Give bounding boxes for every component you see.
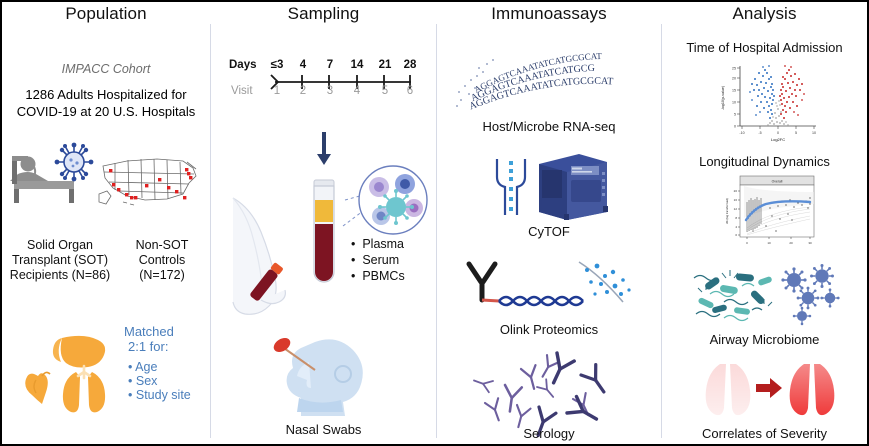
longitudinal-plot-icon: Overall 201612 840 0102030 Ab (log trans…	[722, 174, 818, 252]
svg-text:15: 15	[732, 89, 736, 93]
group-control-line-2: Controls	[116, 253, 208, 268]
group-sot-line-1: Solid Organ	[4, 238, 116, 253]
cytof-instrument-icon	[533, 150, 613, 222]
list-item: • PBMCs	[351, 268, 405, 284]
cohort-line-1: 1286 Adults Hospitalized for	[2, 87, 210, 102]
antibody-icon	[469, 264, 495, 300]
cell-closeup-icon	[341, 160, 429, 248]
dna-sequence-icon: AGGAGTCAAATATCATGCGCAT AGGAGTCAAATATCATG…	[449, 46, 649, 116]
blood-tube-icon	[307, 178, 341, 290]
svg-text:0: 0	[734, 125, 736, 129]
cohort-label: IMPACC Cohort	[2, 62, 210, 76]
panel-sampling: Sampling Days Visit ≤3 4 7 14 21	[211, 2, 436, 446]
blood-products-list: • Plasma • Serum • PBMCs	[351, 236, 405, 284]
svg-text:0: 0	[746, 241, 748, 245]
svg-text:20: 20	[789, 241, 793, 245]
list-item: • Plasma	[351, 236, 405, 252]
panel-title-immunoassays: Immunoassays	[437, 4, 661, 24]
matched-line-1: Matched	[124, 324, 174, 339]
panel-title-sampling: Sampling	[211, 4, 436, 24]
panel-immunoassays: Immunoassays AGGAGTCAAATATCATGCGCAT AGGA…	[437, 2, 661, 446]
caption-correlates: Correlates of Severity	[662, 426, 867, 441]
figure-root: Population IMPACC Cohort 1286 Adults Hos…	[0, 0, 869, 446]
caption-nasal-swabs: Nasal Swabs	[211, 422, 436, 437]
timeline-days-label: Days	[229, 59, 257, 71]
volcano-plot-icon: 0510 152025 -10-50 510 Log2FC -log10(p-v…	[714, 60, 822, 144]
severity-arrow-icon	[756, 378, 782, 398]
svg-text:30: 30	[808, 241, 812, 245]
lungs-healthy-icon	[706, 364, 751, 415]
nasal-swab-head-icon	[269, 332, 381, 416]
lungs-icon	[63, 366, 105, 412]
list-item: • Age	[128, 360, 191, 374]
svg-text:16: 16	[734, 198, 738, 202]
svg-text:10: 10	[812, 131, 816, 135]
down-arrow-icon	[315, 132, 333, 166]
svg-text:5: 5	[734, 113, 736, 117]
svg-text:Log2FC: Log2FC	[771, 137, 785, 142]
microbes-virus-icon	[690, 264, 840, 326]
list-item: • Study site	[128, 388, 191, 402]
group-sot-line-3: Recipients (N=86)	[4, 268, 116, 283]
panel-analysis: Analysis Time of Hospital Admission 0510	[662, 2, 867, 446]
lungs-severe-icon	[790, 364, 835, 415]
svg-text:Overall: Overall	[772, 180, 783, 184]
svg-text:8: 8	[735, 216, 737, 220]
organ-icons	[24, 332, 129, 414]
us-map-icon	[97, 150, 202, 212]
caption-cytof: CyTOF	[437, 224, 661, 239]
svg-text:25: 25	[732, 67, 736, 71]
svg-text:-10: -10	[739, 131, 744, 135]
group-sot-line-2: Transplant (SOT)	[4, 253, 116, 268]
svg-text:20: 20	[734, 189, 738, 193]
group-control-line-1: Non-SOT	[116, 238, 208, 253]
svg-text:Ab (log transformed): Ab (log transformed)	[725, 198, 729, 224]
svg-text:10: 10	[767, 241, 771, 245]
svg-text:10: 10	[732, 101, 736, 105]
caption-time-of-admission: Time of Hospital Admission	[662, 40, 867, 55]
svg-text:-5: -5	[758, 131, 761, 135]
svg-text:0: 0	[735, 233, 737, 237]
caption-microbiome: Airway Microbiome	[662, 332, 867, 347]
svg-text:20: 20	[732, 77, 736, 81]
antibody-cloud-icon	[477, 347, 627, 425]
group-control-label: Non-SOT Controls (N=172)	[116, 238, 208, 283]
virus-cluster-icon	[781, 264, 839, 325]
list-item: • Serum	[351, 252, 405, 268]
caption-longitudinal: Longitudinal Dynamics	[662, 154, 867, 169]
group-sot-label: Solid Organ Transplant (SOT) Recipients …	[4, 238, 116, 283]
cohort-line-2: COVID-19 at 20 U.S. Hospitals	[2, 104, 210, 119]
matched-heading: Matched 2:1 for:	[124, 324, 174, 354]
panel-population: Population IMPACC Cohort 1286 Adults Hos…	[2, 2, 210, 446]
svg-text:5: 5	[795, 131, 797, 135]
panel-title-analysis: Analysis	[662, 4, 867, 24]
caption-rnaseq: Host/Microbe RNA-seq	[437, 119, 661, 134]
matched-criteria-list: • Age • Sex • Study site	[128, 360, 191, 402]
list-item: • Sex	[128, 374, 191, 388]
svg-text:12: 12	[734, 207, 738, 211]
svg-text:4: 4	[735, 225, 737, 229]
group-control-line-3: (N=172)	[116, 268, 208, 283]
virus-icon	[54, 142, 94, 182]
svg-text:0: 0	[777, 131, 779, 135]
heart-icon	[25, 372, 50, 404]
cytof-cell-column-icon	[491, 157, 531, 219]
liver-icon	[53, 336, 105, 368]
panel-title-population: Population	[2, 4, 210, 24]
svg-text:-log10(p-value): -log10(p-value)	[721, 86, 725, 110]
timeline-visit-label: Visit	[231, 85, 253, 97]
caption-olink: Olink Proteomics	[437, 322, 661, 337]
matched-line-2: 2:1 for:	[124, 339, 174, 354]
caption-serology: Serology	[437, 426, 661, 441]
antibody-dna-icon	[455, 260, 645, 318]
lungs-severity-icon	[694, 360, 836, 420]
